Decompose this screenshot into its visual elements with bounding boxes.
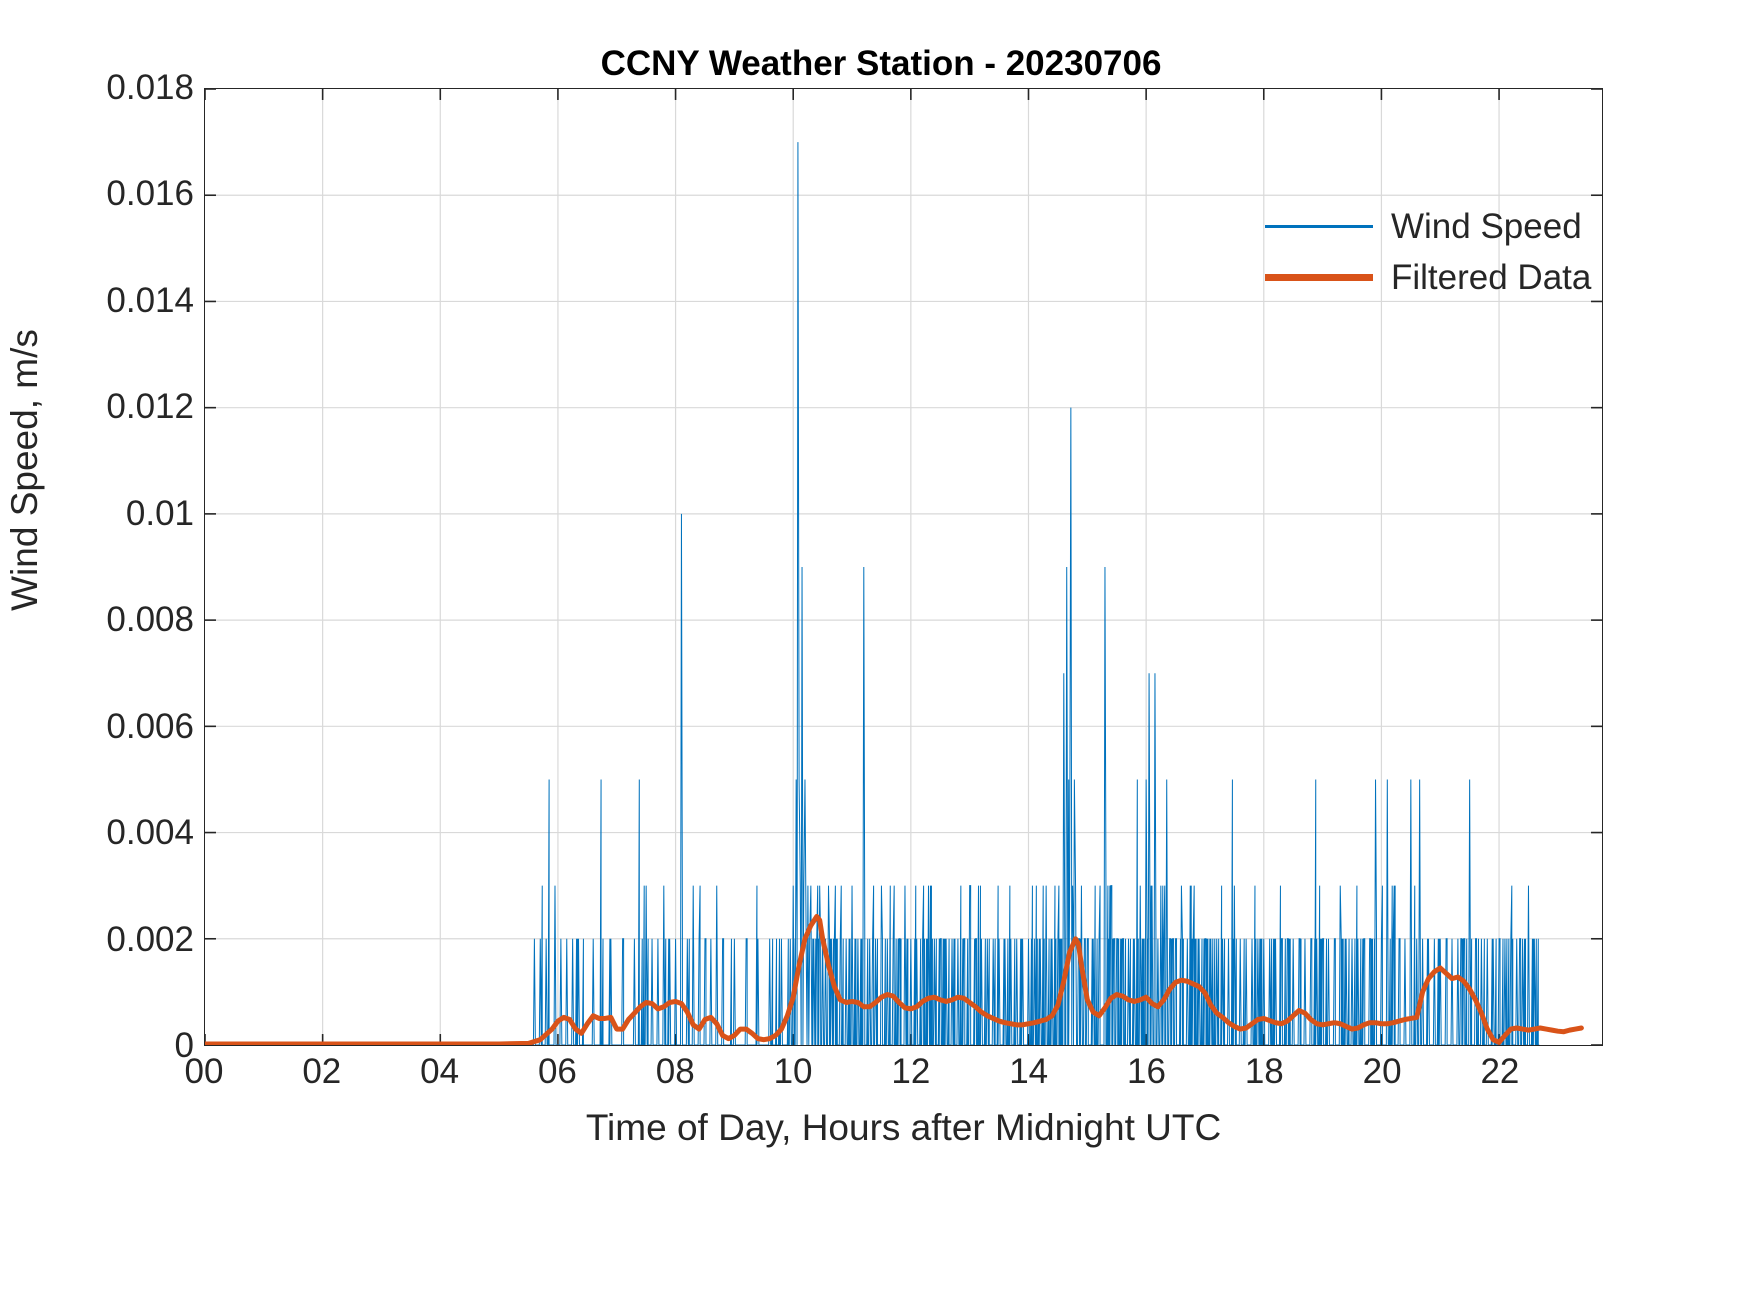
- legend-item-wind-speed[interactable]: Wind Speed: [1265, 201, 1582, 252]
- x-axis-tick-labels: 000204060810121416182022: [204, 1052, 1603, 1102]
- legend-label-wind-speed: Wind Speed: [1391, 209, 1582, 244]
- legend-label-filtered-data: Filtered Data: [1391, 260, 1591, 295]
- legend-swatch-filtered-data: [1265, 274, 1373, 281]
- y-axis-label: Wind Speed, m/s: [4, 0, 46, 950]
- legend-swatch-wind-speed: [1265, 225, 1373, 228]
- chart-title: CCNY Weather Station - 20230706: [0, 44, 1750, 84]
- plot-axes: Wind Speed Filtered Data: [204, 88, 1603, 1046]
- figure-canvas: CCNY Weather Station - 20230706 00.0020.…: [0, 0, 1750, 1313]
- x-axis-label: Time of Day, Hours after Midnight UTC: [204, 1107, 1603, 1149]
- x-tick-label: 22: [1430, 1052, 1570, 1092]
- chart-legend[interactable]: Wind Speed Filtered Data: [1265, 201, 1625, 303]
- legend-item-filtered-data[interactable]: Filtered Data: [1265, 252, 1591, 303]
